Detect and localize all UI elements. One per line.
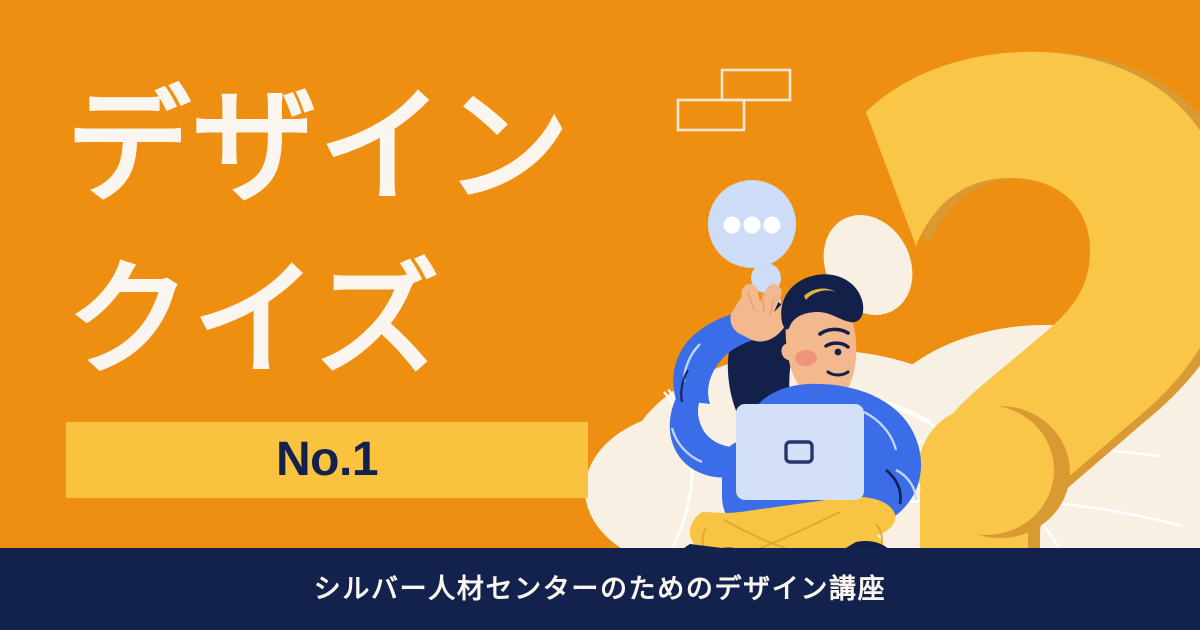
poster-canvas: デザイン クイズ No.1 シルバー人材センターのためのデザイン講座 bbox=[0, 0, 1200, 630]
issue-number-badge: No.1 bbox=[66, 422, 588, 498]
title-line-2: クイズ bbox=[66, 235, 626, 408]
title-line-1: デザイン bbox=[66, 62, 626, 235]
issue-number-label: No.1 bbox=[276, 436, 378, 484]
footer-subtitle: シルバー人材センターのためのデザイン講座 bbox=[314, 576, 886, 603]
cheek-blush bbox=[795, 350, 817, 366]
poster-title: デザイン クイズ bbox=[66, 62, 626, 407]
thought-bubble-dots bbox=[724, 217, 781, 234]
footer-bar: シルバー人材センターのためのデザイン講座 bbox=[0, 548, 1200, 630]
laptop bbox=[736, 404, 864, 500]
